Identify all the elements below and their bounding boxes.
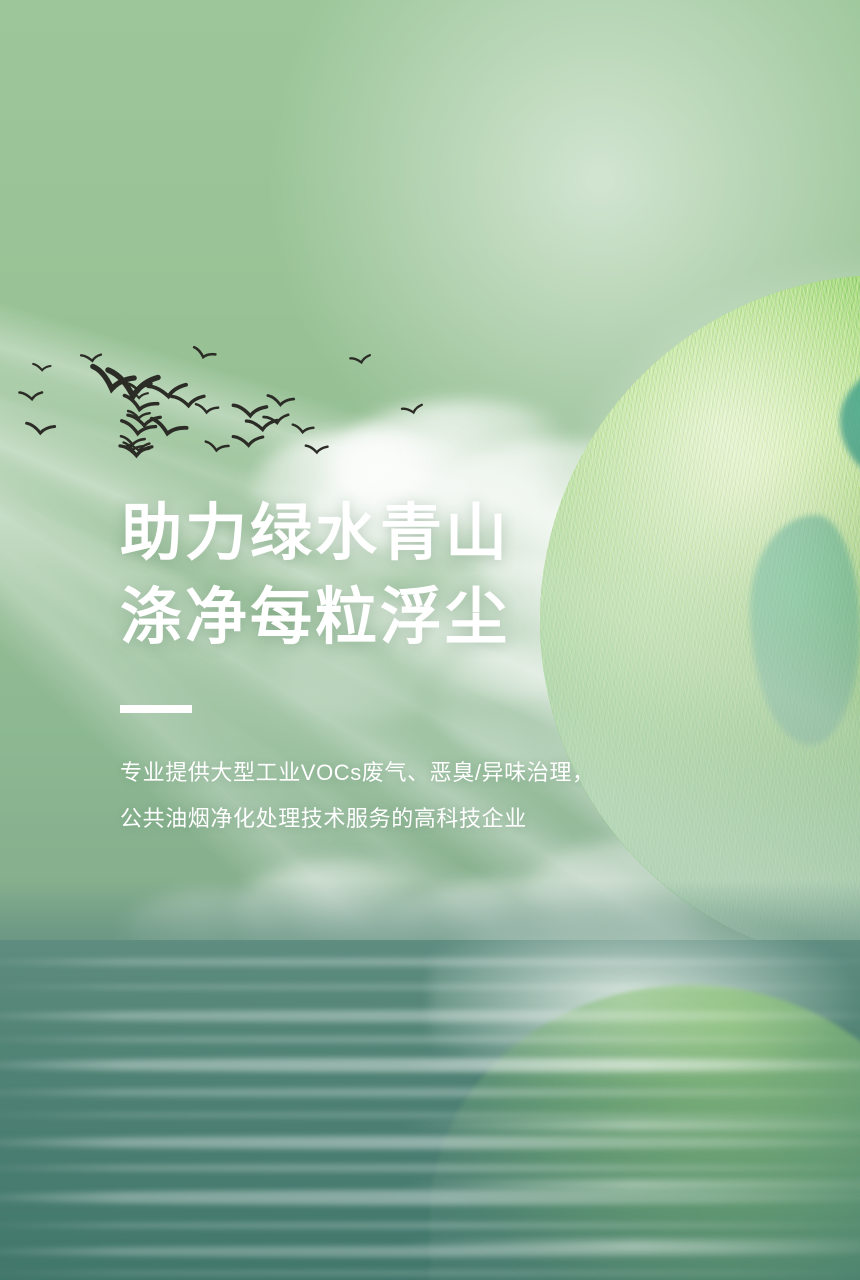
headline-divider [120, 705, 192, 713]
bird-icon [203, 439, 233, 457]
bird-icon [32, 362, 56, 375]
bird-icon [194, 402, 222, 419]
bird-icon [305, 442, 332, 457]
headline-line-1: 助力绿水青山 [120, 492, 680, 576]
subtitle-line-1: 专业提供大型工业VOCs废气、恶臭/异味治理， [120, 753, 680, 793]
bird-icon [266, 393, 299, 412]
bird-icon [400, 400, 427, 420]
bird-icon [291, 422, 317, 438]
banner-stage: 助力绿水青山 涤净每粒浮尘 专业提供大型工业VOCs废气、恶臭/异味治理， 公共… [0, 0, 860, 1280]
banner-copy: 助力绿水青山 涤净每粒浮尘 专业提供大型工业VOCs废气、恶臭/异味治理， 公共… [120, 492, 680, 839]
bird-icon [19, 387, 50, 404]
water-ripples [0, 940, 860, 1280]
subtitle-line-2: 公共油烟净化处理技术服务的高科技企业 [120, 799, 680, 839]
bird-icon [262, 409, 294, 430]
bird-flock [0, 0, 860, 520]
bird-icon [119, 434, 149, 451]
bird-icon [25, 420, 60, 440]
bird-icon [190, 344, 220, 365]
bird-icon [349, 351, 376, 370]
headline-line-2: 涤净每粒浮尘 [120, 576, 680, 660]
